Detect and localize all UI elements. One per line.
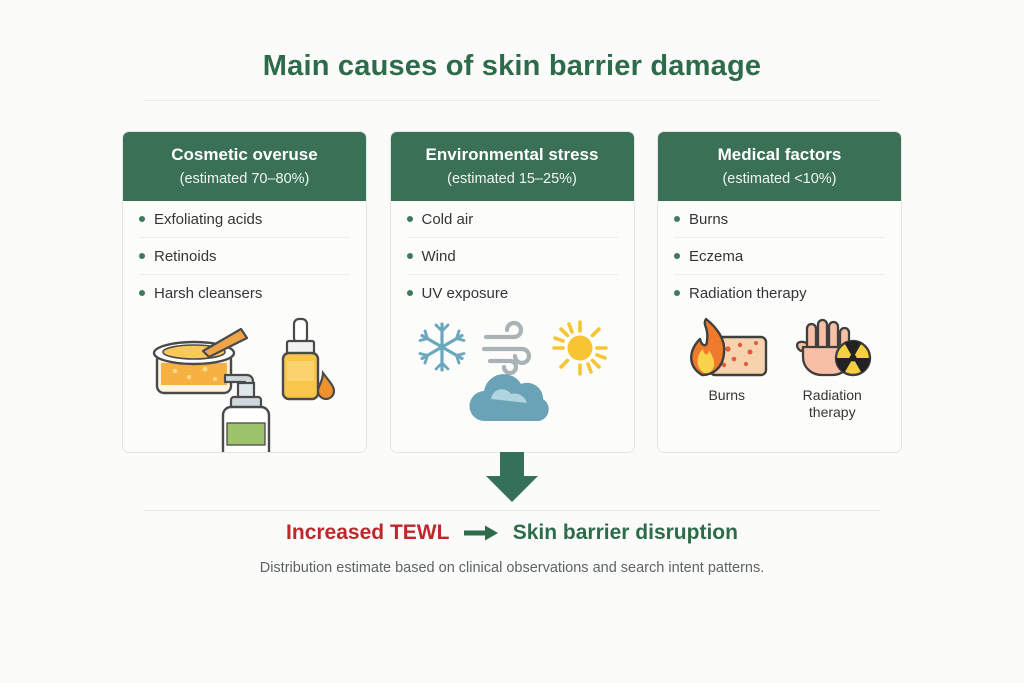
icon-caption: Burns — [677, 387, 777, 404]
conclusion-divider — [143, 510, 881, 511]
list-item-label: Radiation therapy — [689, 285, 807, 302]
cause-cards-row: Cosmetic overuse (estimated 70–80%) Exfo… — [122, 131, 902, 453]
list-item-label: Exfoliating acids — [154, 211, 262, 228]
bullet-list: Burns Eczema Radiation therapy — [674, 201, 885, 311]
radiation-hand-icon — [787, 317, 877, 379]
card-body: Burns Eczema Radiation therapy — [658, 201, 901, 452]
sun-icon — [550, 319, 610, 377]
card-cosmetic-overuse: Cosmetic overuse (estimated 70–80%) Exfo… — [122, 131, 367, 453]
list-item-label: Retinoids — [154, 248, 217, 265]
list-item-label: Burns — [689, 211, 728, 228]
bullet-dot-icon — [674, 253, 680, 259]
card-estimate: (estimated <10%) — [666, 171, 893, 188]
list-item: Harsh cleansers — [139, 275, 350, 311]
list-item: Radiation therapy — [674, 275, 885, 311]
infographic-page: Main causes of skin barrier damage Cosme… — [0, 0, 1024, 683]
card-title: Environmental stress — [399, 145, 626, 165]
burn-skin-icon — [682, 317, 772, 379]
weather-icons-row — [407, 311, 618, 377]
pump-bottle-icon — [205, 359, 291, 453]
bullet-dot-icon — [407, 290, 413, 296]
bullet-dot-icon — [139, 290, 145, 296]
cloud-icon — [461, 373, 563, 425]
list-item-label: Wind — [422, 248, 456, 265]
card-header: Environmental stress (estimated 15–25%) — [391, 132, 634, 201]
wind-icon — [480, 319, 540, 375]
bullet-dot-icon — [674, 216, 680, 222]
bullet-dot-icon — [407, 216, 413, 222]
card-estimate: (estimated 15–25%) — [399, 171, 626, 188]
bullet-list: Exfoliating acids Retinoids Harsh cleans… — [139, 201, 350, 311]
down-arrow-icon — [482, 452, 542, 504]
cloud-icon-wrap — [407, 373, 618, 425]
bullet-dot-icon — [139, 216, 145, 222]
bullet-dot-icon — [139, 253, 145, 259]
burn-illustration: Burns — [677, 317, 777, 421]
list-item-label: UV exposure — [422, 285, 509, 302]
card-body: Exfoliating acids Retinoids Harsh cleans… — [123, 201, 366, 452]
list-item: UV exposure — [407, 275, 618, 311]
list-item-label: Cold air — [422, 211, 474, 228]
list-item: Wind — [407, 238, 618, 275]
medical-icons-row: Burns — [674, 311, 885, 421]
page-title: Main causes of skin barrier damage — [0, 50, 1024, 83]
bullet-dot-icon — [407, 253, 413, 259]
bullet-list: Cold air Wind UV exposure — [407, 201, 618, 311]
list-item: Burns — [674, 201, 885, 238]
card-title: Medical factors — [666, 145, 893, 165]
card-illustration — [407, 311, 618, 452]
footnote: Distribution estimate based on clinical … — [0, 560, 1024, 576]
icon-caption: Radiation therapy — [782, 387, 882, 421]
card-illustration: Burns — [674, 311, 885, 452]
conclusion-effect: Skin barrier disruption — [513, 521, 738, 544]
list-item-label: Harsh cleansers — [154, 285, 262, 302]
right-arrow-icon — [464, 525, 498, 541]
list-item: Eczema — [674, 238, 885, 275]
card-illustration — [139, 311, 350, 452]
list-item-label: Eczema — [689, 248, 743, 265]
card-header: Cosmetic overuse (estimated 70–80%) — [123, 132, 366, 201]
conclusion-cause: Increased TEWL — [286, 521, 449, 544]
card-header: Medical factors (estimated <10%) — [658, 132, 901, 201]
card-body: Cold air Wind UV exposure — [391, 201, 634, 452]
list-item: Cold air — [407, 201, 618, 238]
list-item: Retinoids — [139, 238, 350, 275]
bullet-dot-icon — [674, 290, 680, 296]
list-item: Exfoliating acids — [139, 201, 350, 238]
card-medical-factors: Medical factors (estimated <10%) Burns E… — [657, 131, 902, 453]
card-title: Cosmetic overuse — [131, 145, 358, 165]
conclusion-row: Increased TEWL Skin barrier disruption — [0, 521, 1024, 545]
snowflake-icon — [414, 319, 470, 375]
card-environmental-stress: Environmental stress (estimated 15–25%) … — [390, 131, 635, 453]
radiation-illustration: Radiation therapy — [782, 317, 882, 421]
card-estimate: (estimated 70–80%) — [131, 171, 358, 188]
title-divider — [143, 100, 881, 101]
